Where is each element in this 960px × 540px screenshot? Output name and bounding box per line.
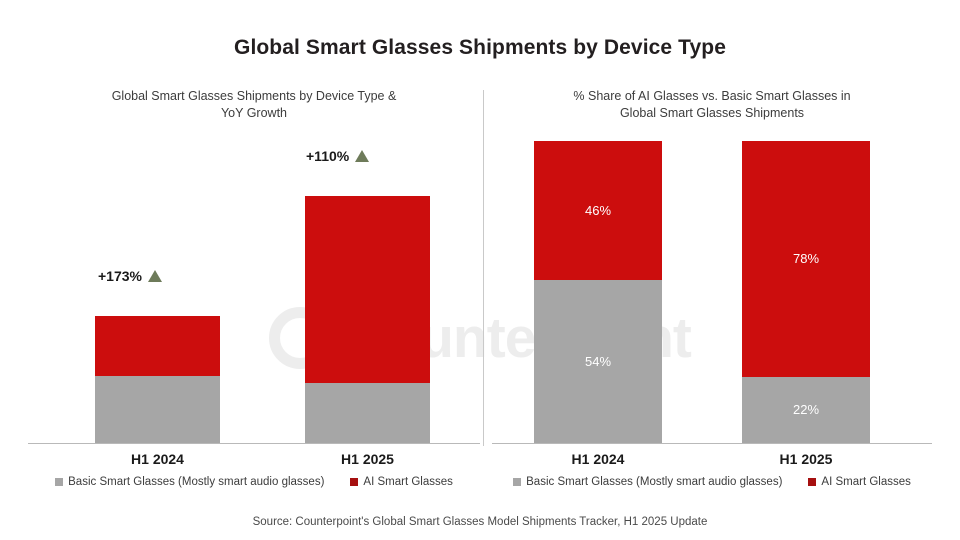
legend-swatch-ai-icon bbox=[350, 478, 358, 486]
category-label-2024: H1 2024 bbox=[95, 451, 220, 467]
bar-segment-ai-share-2024[interactable]: 46% bbox=[534, 141, 662, 280]
bar-label-basic-share-2024: 54% bbox=[585, 354, 611, 369]
bar-share-2024[interactable]: 46% 54% bbox=[534, 141, 662, 443]
bar-shipments-2024[interactable] bbox=[95, 316, 220, 443]
up-triangle-icon bbox=[355, 150, 369, 162]
bar-segment-basic-2025[interactable] bbox=[305, 383, 430, 443]
bar-shipments-2025[interactable] bbox=[305, 196, 430, 443]
source-note: Source: Counterpoint's Global Smart Glas… bbox=[0, 516, 960, 528]
chart-subtitle-left: Global Smart Glasses Shipments by Device… bbox=[28, 88, 480, 128]
bar-segment-ai-2024[interactable] bbox=[95, 316, 220, 376]
bar-segment-ai-2025[interactable] bbox=[305, 196, 430, 383]
legend-swatch-basic-icon bbox=[55, 478, 63, 486]
panel-divider bbox=[483, 90, 484, 446]
legend-label-ai-right: AI Smart Glasses bbox=[821, 476, 910, 488]
page-title: Global Smart Glasses Shipments by Device… bbox=[0, 36, 960, 60]
category-label-share-2025: H1 2025 bbox=[742, 451, 870, 467]
bar-segment-basic-2024[interactable] bbox=[95, 376, 220, 443]
bar-label-ai-share-2025: 78% bbox=[793, 251, 819, 266]
chart-panel-share: % Share of AI Glasses vs. Basic Smart Gl… bbox=[492, 88, 932, 500]
legend-label-basic-right: Basic Smart Glasses (Mostly smart audio … bbox=[526, 476, 782, 488]
bar-segment-ai-share-2025[interactable]: 78% bbox=[742, 141, 870, 377]
legend-swatch-basic-icon bbox=[513, 478, 521, 486]
chart-subtitle-left-line1: Global Smart Glasses Shipments by Device… bbox=[28, 88, 480, 105]
chart-subtitle-left-line2: YoY Growth bbox=[28, 105, 480, 122]
bar-segment-basic-share-2024[interactable]: 54% bbox=[534, 280, 662, 443]
plot-area-share: 46% 54% 78% 22% bbox=[492, 134, 932, 444]
legend-item-basic-right[interactable]: Basic Smart Glasses (Mostly smart audio … bbox=[513, 476, 782, 488]
legend-swatch-ai-icon bbox=[808, 478, 816, 486]
plot-area-shipments: +173% +110% bbox=[28, 134, 480, 444]
legend-item-ai-left[interactable]: AI Smart Glasses bbox=[350, 476, 452, 488]
chart-panel-shipments: Global Smart Glasses Shipments by Device… bbox=[28, 88, 480, 500]
chart-subtitle-right-line2: Global Smart Glasses Shipments bbox=[492, 105, 932, 122]
bar-share-2025[interactable]: 78% 22% bbox=[742, 141, 870, 443]
chart-subtitle-right: % Share of AI Glasses vs. Basic Smart Gl… bbox=[492, 88, 932, 128]
bar-label-basic-share-2025: 22% bbox=[793, 402, 819, 417]
legend-label-ai-left: AI Smart Glasses bbox=[363, 476, 452, 488]
category-label-2025: H1 2025 bbox=[305, 451, 430, 467]
category-labels-left: H1 2024 H1 2025 bbox=[28, 444, 480, 474]
legend-item-basic-left[interactable]: Basic Smart Glasses (Mostly smart audio … bbox=[55, 476, 324, 488]
bar-segment-basic-share-2025[interactable]: 22% bbox=[742, 377, 870, 443]
legend-label-basic-left: Basic Smart Glasses (Mostly smart audio … bbox=[68, 476, 324, 488]
legend-item-ai-right[interactable]: AI Smart Glasses bbox=[808, 476, 910, 488]
growth-annotation-2025: +110% bbox=[306, 148, 369, 164]
growth-annotation-2024-value: +173% bbox=[98, 268, 142, 284]
category-labels-right: H1 2024 H1 2025 bbox=[492, 444, 932, 474]
growth-annotation-2024: +173% bbox=[98, 268, 162, 284]
bar-label-ai-share-2024: 46% bbox=[585, 203, 611, 218]
category-label-share-2024: H1 2024 bbox=[534, 451, 662, 467]
up-triangle-icon bbox=[148, 270, 162, 282]
growth-annotation-2025-value: +110% bbox=[306, 148, 349, 164]
legend-left: Basic Smart Glasses (Mostly smart audio … bbox=[28, 476, 480, 488]
chart-subtitle-right-line1: % Share of AI Glasses vs. Basic Smart Gl… bbox=[492, 88, 932, 105]
legend-right: Basic Smart Glasses (Mostly smart audio … bbox=[492, 476, 932, 488]
